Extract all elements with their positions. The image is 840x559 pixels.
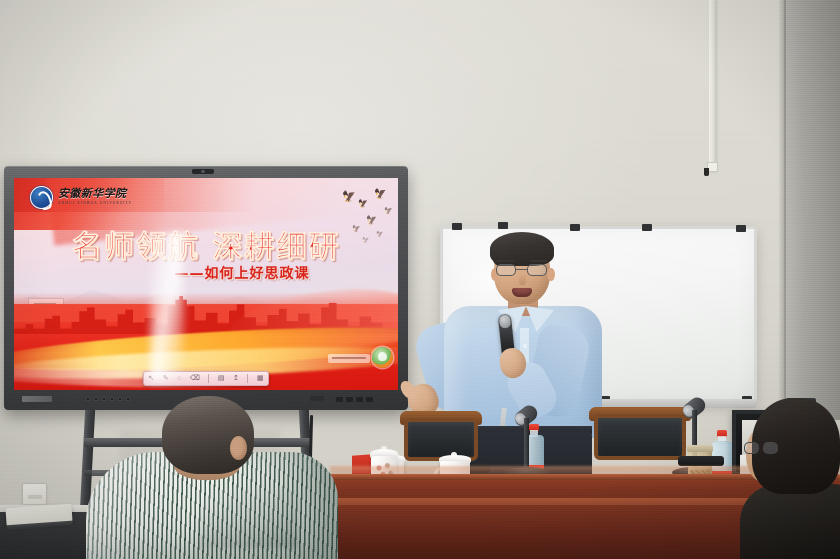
magnet-clip-icon [452, 223, 462, 230]
dove-icon: 🦅 [384, 208, 393, 215]
jar-lid [687, 445, 713, 452]
eraser-icon[interactable]: ⌫ [190, 375, 200, 382]
wall-column [784, 0, 840, 420]
cursor-icon[interactable]: ↖ [148, 375, 154, 382]
export-icon[interactable]: ↥ [233, 375, 239, 382]
microphone-pole [524, 418, 529, 470]
university-name-en: ANHUI XINHUA UNIVERSITY [58, 202, 132, 206]
attendee-ear [230, 436, 247, 460]
usb-port-icon[interactable] [346, 397, 353, 402]
magnet-clip-icon [642, 224, 652, 231]
toolbar-divider [247, 374, 248, 383]
magnet-clip-icon [570, 224, 580, 231]
shape-icon[interactable]: ◌ [177, 375, 181, 382]
speaker-nose [519, 274, 526, 285]
university-emblem-icon [30, 186, 53, 209]
university-logo-text: 安徽新华学院 ANHUI XINHUA UNIVERSITY [58, 189, 132, 206]
dove-icon: 🦅 [358, 200, 368, 208]
wall-switch-plate[interactable] [22, 483, 47, 505]
page-icon[interactable]: ▤ [218, 375, 225, 382]
magnet-clip-icon [498, 222, 508, 229]
cable-conduit-icon [709, 0, 716, 172]
glasses-bridge [516, 269, 527, 270]
display-port-panel[interactable] [336, 395, 382, 403]
dove-icon: 🦅 [374, 190, 386, 200]
glasses-lens-right [527, 264, 547, 276]
assistant-badge-label [328, 354, 370, 363]
university-logo: 安徽新华学院 ANHUI XINHUA UNIVERSITY [30, 186, 132, 209]
notebook-laptop [5, 504, 72, 527]
usb-port-icon[interactable] [336, 397, 343, 402]
slide-title: 名师领航 深耕细研 [14, 222, 398, 266]
shirt-button [523, 344, 527, 348]
pen-icon[interactable]: ✎ [163, 375, 169, 382]
speaker-mouth [512, 288, 532, 297]
wall-column-edge [778, 0, 786, 430]
slide-subtitle: ——如何上好思政课 [14, 263, 398, 283]
display-brand-logo [22, 396, 52, 402]
hdmi-port-icon[interactable] [356, 397, 363, 402]
dove-icon: 🦅 [342, 192, 356, 203]
conduit-wire [704, 168, 709, 176]
glasses-lens-left [744, 442, 759, 454]
lecture-room-photo: 🦅 🦅 🦅 🦅 🦅 🦅 🦅 🦅 安徽新华学院 ANHUI XINHUA UNIV… [0, 0, 840, 559]
annotation-toolbar[interactable]: ↖ ✎ ◌ ⌫ ▤ ↥ ▦ [143, 371, 269, 386]
grid-icon[interactable]: ▦ [257, 375, 264, 382]
display-camera-icon [192, 169, 214, 174]
attendee-shirt-fold [198, 488, 298, 548]
tabletop-pad-right [678, 456, 724, 466]
foreground-attendee-left [78, 396, 328, 559]
glasses-lens-left [496, 264, 516, 276]
attendee-head-back [162, 396, 254, 474]
assistant-badge-icon[interactable] [372, 347, 393, 368]
magnet-clip-icon [736, 225, 746, 232]
glasses-lens-right [763, 442, 778, 454]
university-name-cn: 安徽新华学院 [58, 189, 132, 200]
display-screen[interactable]: 🦅 🦅 🦅 🦅 🦅 🦅 🦅 🦅 安徽新华学院 ANHUI XINHUA UNIV… [14, 178, 398, 390]
foreground-attendee-right [744, 398, 840, 559]
hdmi-port-icon[interactable] [366, 397, 373, 402]
toolbar-divider [208, 374, 209, 383]
attendee-glasses-icon [744, 442, 778, 455]
attendee-dark-jacket [740, 484, 840, 559]
